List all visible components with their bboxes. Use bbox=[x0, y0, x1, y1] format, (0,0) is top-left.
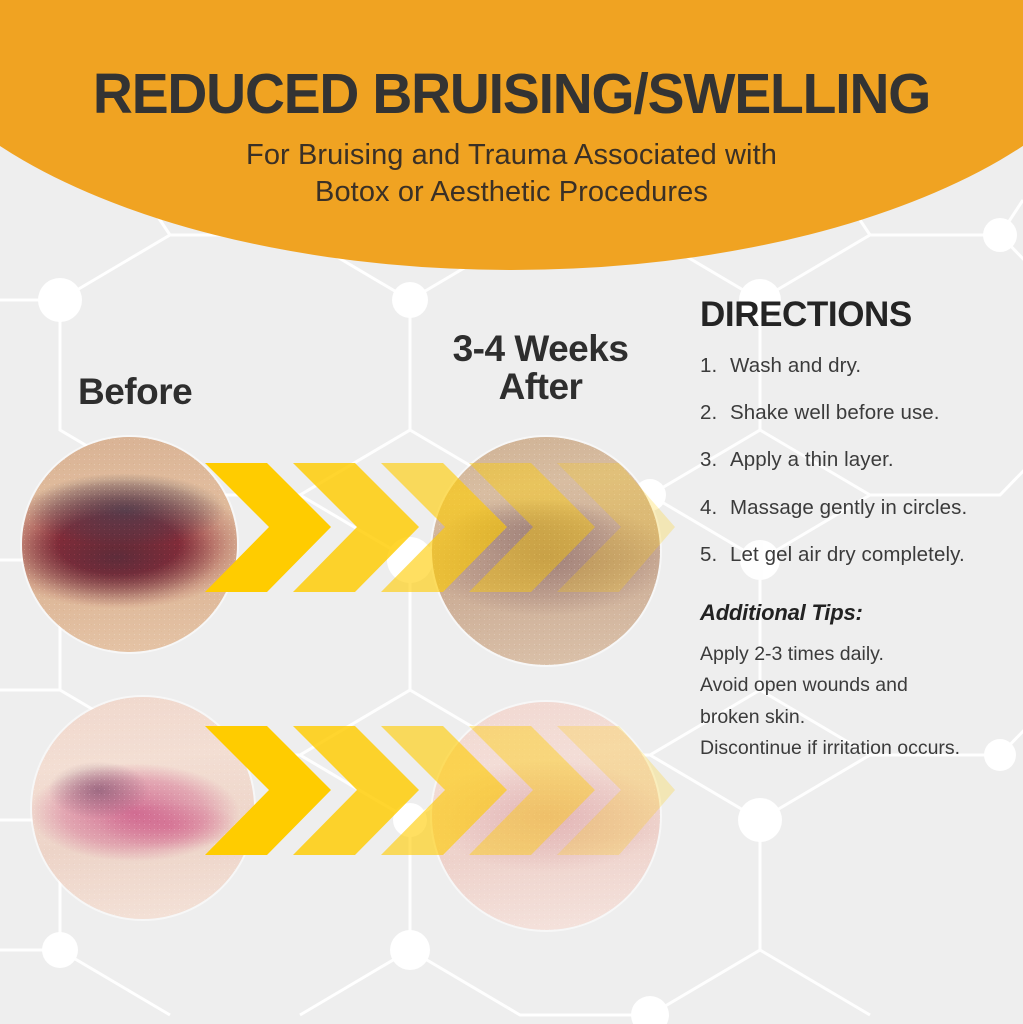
tip-line: broken skin. bbox=[700, 702, 1023, 733]
list-item: 4. Massage gently in circles. bbox=[700, 495, 1023, 521]
step-text: Apply a thin layer. bbox=[730, 447, 1023, 473]
after-label-line-2: After bbox=[499, 366, 583, 407]
additional-tips-body: Apply 2-3 times daily. Avoid open wounds… bbox=[700, 639, 1023, 764]
step-number: 4. bbox=[700, 495, 730, 521]
before-after-comparison: Before 3-4 Weeks After bbox=[0, 250, 680, 1024]
tip-line: Discontinue if irritation occurs. bbox=[700, 733, 1023, 764]
step-text: Shake well before use. bbox=[730, 400, 1023, 426]
directions-heading: DIRECTIONS bbox=[700, 295, 1023, 335]
page-title: REDUCED BRUISING/SWELLING bbox=[15, 65, 1007, 123]
header-banner: REDUCED BRUISING/SWELLING For Bruising a… bbox=[0, 0, 1023, 270]
subtitle-line-2: Botox or Aesthetic Procedures bbox=[315, 176, 708, 208]
step-number: 5. bbox=[700, 542, 730, 568]
list-item: 3. Apply a thin layer. bbox=[700, 447, 1023, 473]
step-text: Wash and dry. bbox=[730, 353, 1023, 379]
page-subtitle: For Bruising and Trauma Associated with … bbox=[0, 137, 1023, 212]
directions-step-list: 1. Wash and dry. 2. Shake well before us… bbox=[700, 353, 1023, 568]
step-number: 3. bbox=[700, 447, 730, 473]
list-item: 2. Shake well before use. bbox=[700, 400, 1023, 426]
step-number: 1. bbox=[700, 353, 730, 379]
list-item: 5. Let gel air dry completely. bbox=[700, 542, 1023, 568]
tip-line: Apply 2-3 times daily. bbox=[700, 639, 1023, 670]
list-item: 1. Wash and dry. bbox=[700, 353, 1023, 379]
after-label-line-1: 3-4 Weeks bbox=[453, 328, 629, 369]
progress-arrow-row-1 bbox=[205, 455, 675, 600]
tip-line: Avoid open wounds and bbox=[700, 670, 1023, 701]
step-number: 2. bbox=[700, 400, 730, 426]
directions-panel: DIRECTIONS 1. Wash and dry. 2. Shake wel… bbox=[700, 295, 1023, 764]
step-text: Massage gently in circles. bbox=[730, 495, 1023, 521]
additional-tips-heading: Additional Tips: bbox=[700, 600, 1023, 626]
subtitle-line-1: For Bruising and Trauma Associated with bbox=[246, 139, 777, 171]
progress-arrow-row-2 bbox=[205, 718, 675, 863]
before-label: Before bbox=[78, 373, 192, 411]
step-text: Let gel air dry completely. bbox=[730, 542, 1023, 568]
after-label: 3-4 Weeks After bbox=[418, 330, 663, 405]
